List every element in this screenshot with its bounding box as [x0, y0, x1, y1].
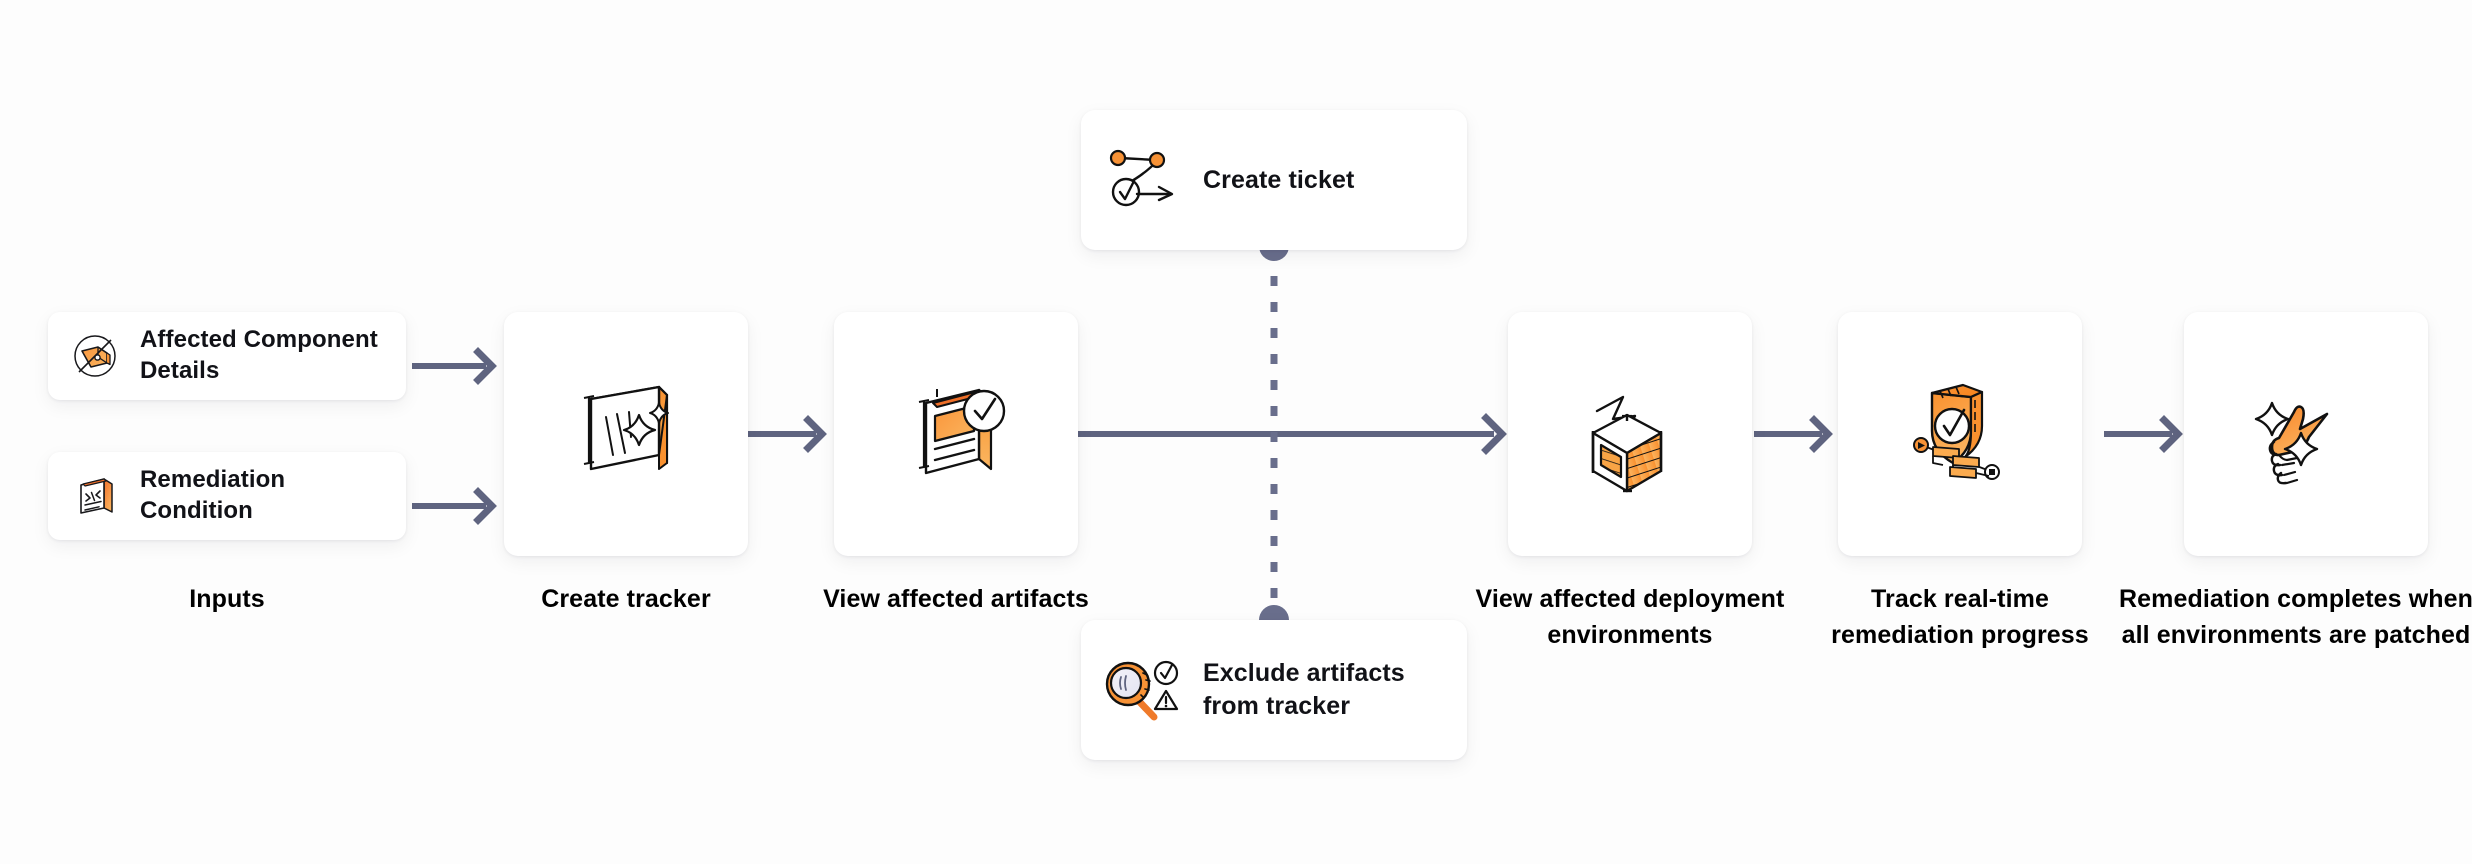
thumbs-up-sparkle-icon	[2231, 359, 2381, 509]
branch-card-label: Create ticket	[1203, 164, 1354, 197]
inputs-group-label: Inputs	[48, 582, 406, 618]
document-check-icon	[881, 359, 1031, 509]
workflow-ticket-icon	[1103, 139, 1185, 221]
remediation-condition-icon	[66, 467, 124, 525]
arrow-deployment-environments-to-track-progress	[1754, 420, 1828, 448]
node-create-tracker[interactable]	[504, 312, 748, 556]
branch-card-label: Exclude artifacts from tracker	[1203, 657, 1445, 723]
node-remediation-completes[interactable]	[2184, 312, 2428, 556]
arrow-create-tracker-to-view-artifacts	[748, 420, 822, 448]
input-card-label: Affected Component Details	[140, 325, 388, 386]
arrow-track-progress-to-remediation-completes	[2104, 420, 2178, 448]
node-view-affected-deployment-environments[interactable]	[1508, 312, 1752, 556]
input-card-affected-component-details[interactable]: Affected Component Details	[48, 312, 406, 400]
arrow-input1-to-create-tracker	[412, 352, 492, 380]
arrow-view-artifacts-to-deployment-environments	[1078, 418, 1502, 450]
input-card-remediation-condition[interactable]: Remediation Condition	[48, 452, 406, 540]
arrow-input2-to-create-tracker	[412, 492, 492, 520]
shield-check-gantt-icon	[1885, 359, 2035, 509]
branch-card-exclude-artifacts-from-tracker[interactable]: Exclude artifacts from tracker	[1081, 620, 1467, 760]
caption-view-affected-deployment-environments: View affected deployment environments	[1468, 582, 1792, 653]
node-view-affected-artifacts[interactable]	[834, 312, 1078, 556]
node-track-realtime-remediation-progress[interactable]	[1838, 312, 2082, 556]
caption-track-realtime-remediation-progress: Track real-time remediation progress	[1798, 582, 2122, 653]
remediation-workflow-diagram: .conn { stroke: #5f6480; stroke-width: 6…	[0, 0, 2472, 864]
tracker-board-icon	[551, 359, 701, 509]
branch-dashed-connector	[1259, 231, 1289, 635]
caption-view-affected-artifacts: View affected artifacts	[794, 582, 1118, 618]
branch-card-create-ticket[interactable]: Create ticket	[1081, 110, 1467, 250]
deployment-cube-pulse-icon	[1555, 359, 1705, 509]
magnifier-exclude-icon	[1103, 649, 1185, 731]
caption-create-tracker: Create tracker	[464, 582, 788, 618]
affected-component-details-icon	[66, 327, 124, 385]
input-card-label: Remediation Condition	[140, 465, 388, 526]
caption-remediation-completes: Remediation completes when all environme…	[2114, 582, 2472, 653]
